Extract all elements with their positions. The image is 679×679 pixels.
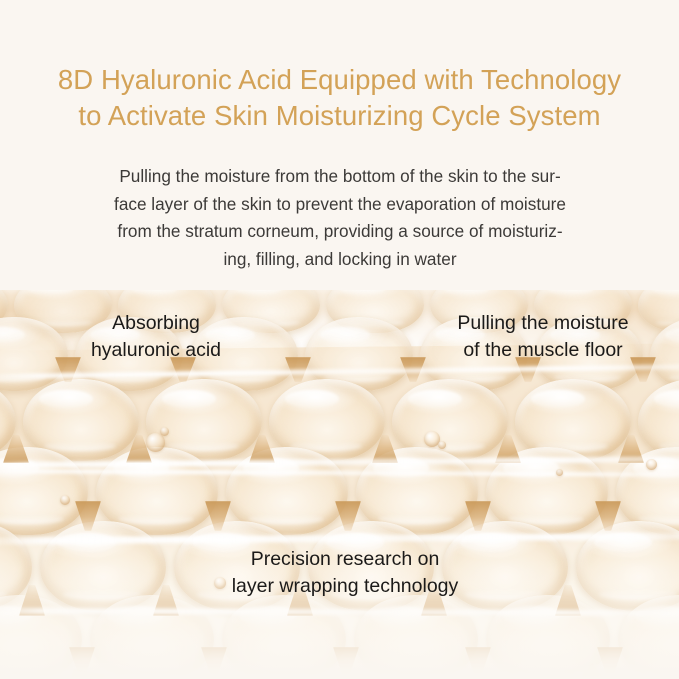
capsule: [298, 663, 418, 679]
caption-pulling-moisture: Pulling the moisture of the muscle floor: [418, 310, 668, 364]
micro-bubble: [146, 433, 165, 452]
product-infographic-page: 8D Hyaluronic Acid Equipped with Technol…: [0, 0, 679, 679]
caption-precision-research: Precision research on layer wrapping tec…: [175, 546, 515, 600]
capsule: [42, 663, 162, 679]
caption-absorbing-hyaluronic-acid: Absorbing hyaluronic acid: [36, 310, 276, 364]
page-subtitle: Pulling the moisture from the bottom of …: [60, 163, 620, 273]
page-title: 8D Hyaluronic Acid Equipped with Technol…: [0, 62, 679, 134]
capsule: [0, 663, 34, 679]
micro-bubble: [646, 459, 657, 470]
micro-bubble: [556, 469, 563, 476]
capsule: [170, 663, 290, 679]
micro-bubble: [160, 427, 169, 436]
micro-bubble: [438, 441, 446, 449]
header-section: 8D Hyaluronic Acid Equipped with Technol…: [0, 0, 679, 290]
capsule: [426, 663, 546, 679]
micro-bubble: [60, 495, 70, 505]
